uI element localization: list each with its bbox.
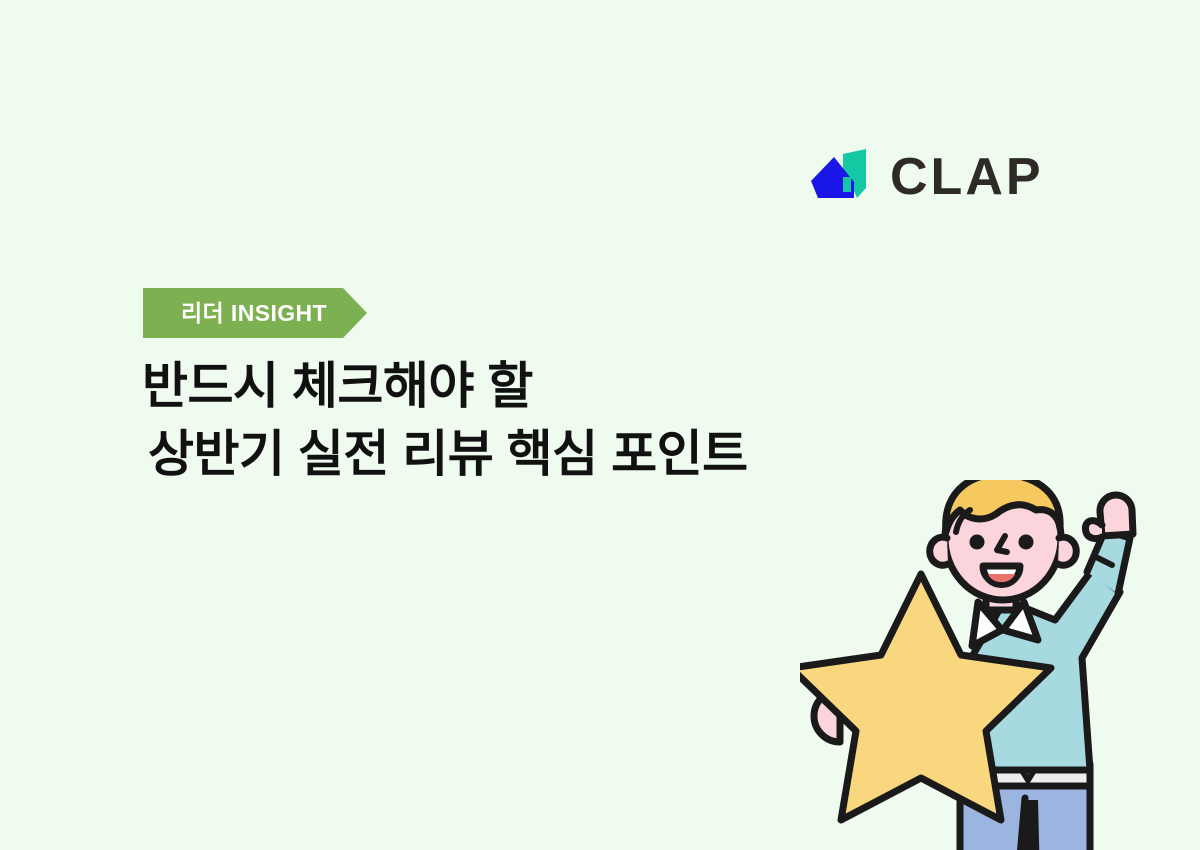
- eyebrow-badge: 리더 INSIGHT: [143, 288, 367, 338]
- promo-banner: CLAP 리더 INSIGHT 반드시 체크해야 할 상반기 실전 리뷰 핵심 …: [0, 0, 1200, 850]
- brand-wordmark: CLAP: [890, 151, 1044, 203]
- cheering-person-illustration: [800, 480, 1200, 850]
- eyebrow-badge-label: 리더 INSIGHT: [181, 302, 327, 325]
- brand-logo: CLAP: [810, 148, 1044, 206]
- headline: 반드시 체크해야 할 상반기 실전 리뷰 핵심 포인트: [142, 352, 922, 488]
- headline-line-1: 반드시 체크해야 할: [142, 352, 922, 420]
- clap-logo-mark-icon: [810, 148, 872, 206]
- headline-line-2: 상반기 실전 리뷰 핵심 포인트: [142, 420, 922, 488]
